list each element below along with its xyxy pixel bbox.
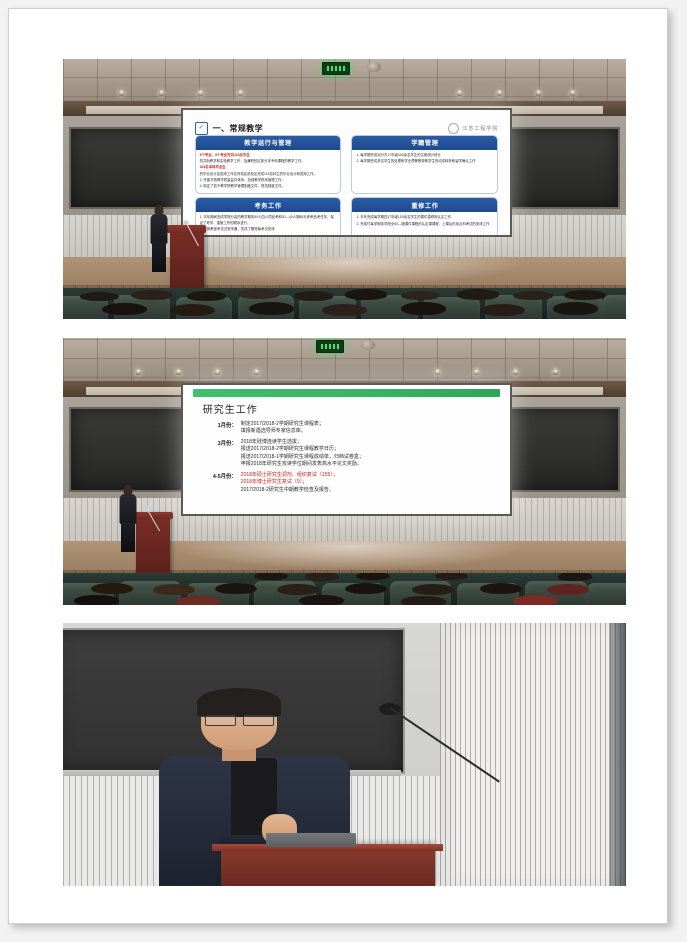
card-line-highlight: 8个专业、5个专业方向423名学生 — [200, 153, 250, 157]
logo-text: 江苏工程学院 — [462, 125, 498, 132]
exit-sign-icon — [316, 340, 344, 353]
audience-head — [277, 584, 319, 596]
slide-row: 4-5月份： 2018年硕士研究生调剂、组织复试（155）； 2018年博士研究… — [203, 472, 494, 495]
card-line: 1. 半年期间完成学院分高的教学期末50人四六项品考和30—40人期88天考考品… — [200, 215, 337, 226]
audience-rows — [63, 573, 626, 605]
card-line: 2. 每学期完成多名学生的处理和学业预警等特殊学生的动态转折和留学确认工作 — [356, 159, 493, 164]
card-line: 1. 半年完成每学期四17年级100余名学生的课件重修相认定工作 — [356, 215, 493, 220]
spotlight-icon — [119, 90, 124, 96]
speaker-presenter — [114, 485, 142, 573]
slide-row: 1月份： 制定2017/2018-2学期研究生课程表； 填报新遇选导师专家信息库… — [203, 421, 494, 436]
audience-head — [345, 289, 387, 299]
spotlight-icon — [570, 90, 575, 96]
slide-card-header: 教学运行与管理 — [196, 136, 341, 150]
audience-head — [457, 289, 499, 300]
exit-sign-icon — [322, 62, 350, 75]
spotlight-icon — [215, 369, 220, 375]
audience-head — [80, 292, 119, 301]
slide-card: 考务工作 1. 半年期间完成学院分高的教学期末50人四六项品考和30—40人期8… — [195, 197, 342, 237]
slide-card: 教学运行与管理 8个专业、5个专业方向423名学生 的并轨教学和实验教学工作，及… — [195, 135, 342, 195]
lectern — [221, 844, 435, 886]
card-line: 2. 安排教室考试试室申通，完成了期短每考试安排 — [200, 227, 337, 232]
slide-line: 填报新遇选导师专家信息库。 — [241, 428, 324, 436]
audience-head — [74, 595, 119, 605]
slide-row-lines: 制定2017/2018-2学期研究生课程表； 填报新遇选导师专家信息库。 — [241, 421, 324, 436]
slide-card-header: 重修工作 — [352, 198, 497, 212]
spotlight-icon — [553, 369, 558, 375]
blackboard-left — [69, 127, 191, 209]
slide-content: 研究生工作 1月份： 制定2017/2018-2学期研究生课程表； 填报新遇选导… — [203, 401, 494, 509]
audience-head — [305, 573, 339, 581]
spotlight-icon — [136, 369, 141, 375]
audience-head — [153, 584, 195, 596]
slide-line: 2018年博士研究生复试（9）； — [241, 479, 338, 487]
audience-head — [102, 303, 147, 315]
audience-head — [513, 291, 552, 300]
audience-head — [91, 583, 133, 595]
slide-card-header: 考务工作 — [196, 198, 341, 212]
audience-head — [553, 302, 598, 315]
photo-auditorium-slide-two[interactable]: 研究生工作 1月份： 制定2017/2018-2学期研究生课程表； 填报新遇选导… — [63, 338, 626, 605]
photo-speaker-closeup[interactable] — [63, 623, 626, 886]
blackboard-right — [498, 127, 620, 209]
audience-head — [513, 595, 558, 605]
slide-card-body: 8个专业、5个专业方向423名学生 的并轨教学和实验教学工作，及兼职校区部分本专… — [196, 150, 341, 194]
projection-screen: 研究生工作 1月份： 制定2017/2018-2学期研究生课程表； 填报新遇选导… — [181, 383, 512, 515]
slide-row-lines: 2018年硅博连读学生选拔； 报送2017/2018-2学期研究生课程教学日历；… — [241, 439, 364, 469]
speaker-body — [150, 214, 167, 244]
slide-line: 报送2017/2018-2学期研究生课程教学日历； — [241, 446, 364, 454]
audience-head — [435, 573, 469, 580]
card-line: 2. 完成付每学期末学院全60—服课件课程的认定课课程，上课后的电点科考试的安排… — [356, 222, 493, 227]
spotlight-icon — [474, 369, 479, 375]
slide-regular-teaching: ✓ 一、常规教学 江苏工程学院 教学运行与管理 8个专业、5 — [183, 110, 510, 235]
blackboard-right — [498, 407, 620, 491]
slide-row-month: 3月份： — [203, 439, 241, 447]
laptop-device — [266, 833, 356, 846]
document-check-icon: ✓ — [195, 122, 208, 135]
speaker-presenter — [145, 205, 173, 288]
audience-head — [480, 304, 525, 316]
speaker-hair — [197, 688, 281, 717]
auditorium-scene: 研究生工作 1月份： 制定2017/2018-2学期研究生课程表； 填报新遇选导… — [63, 338, 626, 605]
institution-logo: 江苏工程学院 — [448, 123, 498, 134]
slide-row-month: 1月份： — [203, 421, 241, 429]
spotlight-icon — [536, 90, 541, 96]
slide-graduate-work: 研究生工作 1月份： 制定2017/2018-2学期研究生课程表； 填报新遇选导… — [183, 385, 510, 513]
document-page: ✓ 一、常规教学 江苏工程学院 教学运行与管理 8个专业、5 — [8, 8, 668, 924]
closeup-scene — [63, 623, 626, 886]
slide-title: 研究生工作 — [203, 401, 494, 416]
projection-screen: ✓ 一、常规教学 江苏工程学院 教学运行与管理 8个专业、5 — [181, 108, 512, 237]
slide-card: 重修工作 1. 半年完成每学期四17年级100余名学生的课件重修相认定工作 2.… — [351, 197, 498, 237]
card-line: 1. 每学期完成对行去17年级400余名学生的注册统计统计 — [356, 153, 493, 158]
slide-header: ✓ 一、常规教学 江苏工程学院 — [195, 122, 499, 135]
spotlight-icon — [497, 90, 502, 96]
audience-head — [480, 583, 522, 595]
slide-line: 2017/2018-2研究生中期教学检查及报告。 — [241, 487, 338, 495]
spotlight-icon — [176, 369, 181, 375]
spotlight-icon — [238, 90, 243, 96]
audience-head — [238, 289, 280, 299]
slide-row-month: 4-5月份： — [203, 472, 241, 480]
speaker-body — [119, 494, 136, 524]
audience-head — [170, 304, 215, 316]
window-blinds-edge — [609, 623, 626, 886]
slide-row-lines: 2018年硕士研究生调剂、组织复试（155）； 2018年博士研究生复试（9）；… — [241, 472, 338, 495]
card-line-highlight: 423名本科毕业生 — [200, 165, 226, 169]
audience-head — [558, 573, 592, 581]
audience-head — [187, 291, 226, 301]
lectern — [170, 225, 204, 287]
spotlight-icon — [435, 369, 440, 375]
photo-auditorium-slide-one[interactable]: ✓ 一、常规教学 江苏工程学院 教学运行与管理 8个专业、5 — [63, 59, 626, 319]
auditorium-scene: ✓ 一、常规教学 江苏工程学院 教学运行与管理 8个专业、5 — [63, 59, 626, 319]
slide-card-body: 1. 半年完成每学期四17年级100余名学生的课件重修相认定工作 2. 完成付每… — [352, 212, 497, 231]
audience-head — [294, 291, 333, 300]
audience-head — [401, 302, 446, 315]
audience-head — [176, 596, 221, 605]
audience-head — [356, 573, 390, 580]
audience-head — [215, 583, 257, 595]
spotlight-icon — [457, 90, 462, 96]
slide-row: 3月份： 2018年硅博连读学生选拔； 报送2017/2018-2学期研究生课程… — [203, 439, 494, 469]
audience-head — [322, 304, 367, 316]
audience-head — [564, 290, 606, 300]
audience-head — [299, 595, 344, 605]
speaker-legs — [152, 242, 166, 272]
audience-rows — [63, 288, 626, 319]
microphone-icon — [373, 694, 542, 804]
slide-line: 申报2018年研究生攻读学位期间发表高水平论文奖励。 — [241, 461, 364, 469]
audience-head — [547, 584, 589, 596]
audience-head — [131, 290, 173, 301]
card-line: 3. 完善开放教学质量监评体系，加强教学秩序管理工作。 — [200, 178, 337, 183]
screenshot-root: ✓ 一、常规教学 江苏工程学院 教学运行与管理 8个专业、5 — [0, 0, 687, 942]
audience-head — [412, 584, 454, 596]
card-line: 的并轨教学和实验教学工作，及兼职校区部分本专科课程的教学工作。 — [200, 159, 337, 164]
slide-card-body: 1. 每学期完成对行去17年级400余名学生的注册统计统计 2. 每学期完成多名… — [352, 150, 497, 169]
slide-card: 学籍管理 1. 每学期完成对行去17年级400余名学生的注册统计统计 2. 每学… — [351, 135, 498, 195]
audience-head — [401, 291, 440, 301]
slide-title: 一、常规教学 — [213, 123, 263, 134]
slide-card-header: 学籍管理 — [352, 136, 497, 150]
audience-head — [254, 573, 288, 580]
glasses-icon — [205, 715, 274, 725]
slide-accent-bar — [193, 389, 500, 397]
speaker-legs — [121, 522, 135, 552]
spotlight-icon — [198, 90, 203, 96]
card-line: 的毕业设计及答辩工作名列校区前校区完成115名科生的毕业设计和答辩工作。 — [200, 172, 337, 177]
slide-card-grid: 教学运行与管理 8个专业、5个专业方向423名学生 的并轨教学和实验教学工作，及… — [195, 135, 499, 237]
audience-head — [401, 596, 446, 605]
spotlight-icon — [159, 90, 164, 96]
audience-head — [345, 583, 387, 595]
card-line: 4. 制定了若干教学院教学管理制度文件，规范制度文件。 — [200, 184, 337, 189]
blackboard-left — [69, 407, 191, 491]
slide-card-body: 1. 半年期间完成学院分高的教学期末50人四六项品考和30—40人期88天考考品… — [196, 212, 341, 236]
audience-head — [249, 302, 294, 315]
logo-mark-icon — [448, 123, 459, 134]
